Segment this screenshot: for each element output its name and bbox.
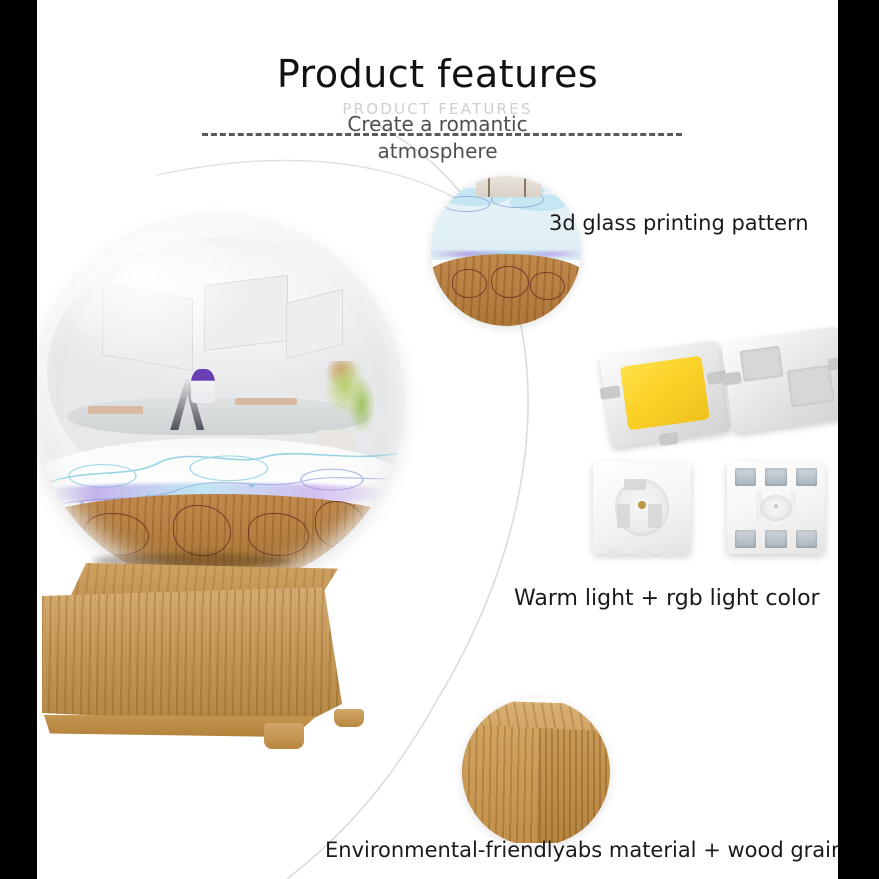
solder-pad — [735, 468, 757, 486]
cube-right-face — [539, 728, 610, 843]
led-die — [648, 504, 662, 528]
background-wire — [488, 176, 490, 197]
rgb-5050-led-top-view — [593, 462, 691, 554]
background-object — [476, 176, 542, 197]
solder-pad — [765, 468, 787, 486]
poster-canvas: PRODUCT FEATURES Product features Create… — [37, 0, 838, 879]
printed-contour-line — [491, 266, 529, 298]
caption-glass-print: 3d glass printing pattern — [549, 211, 809, 235]
led-notch — [658, 431, 679, 446]
callout-wood-grain-detail — [462, 698, 610, 846]
callout-glass-print-detail — [431, 176, 581, 326]
package-center-dot — [774, 504, 778, 509]
base-foot — [334, 709, 364, 727]
warm-white-smd-led — [599, 340, 731, 448]
printed-contour-line — [452, 269, 487, 298]
led-pad — [739, 346, 783, 383]
glass-rim-shading — [37, 215, 404, 587]
glass-ball — [37, 215, 404, 587]
base-foot — [264, 723, 304, 749]
led-die — [617, 504, 631, 528]
background-wire — [524, 176, 526, 197]
product-feature-poster: PRODUCT FEATURES Product features Create… — [0, 0, 879, 879]
printed-contour-line — [530, 272, 565, 300]
led-lead — [662, 549, 678, 557]
led-center-contact — [638, 501, 646, 509]
solder-pad — [796, 530, 818, 548]
letterbox-band-left — [0, 0, 37, 879]
letterbox-band-right — [838, 0, 879, 879]
led-pad — [787, 365, 834, 407]
rgb-5050-led-pad-view — [727, 462, 825, 554]
caption-material: Environmental-friendlyabs material + woo… — [325, 838, 838, 862]
wooden-base — [42, 563, 362, 763]
led-lead — [634, 549, 650, 557]
tagline-line-2: atmosphere — [37, 138, 838, 165]
cube-left-face — [462, 722, 542, 843]
poster-header: PRODUCT FEATURES Product features Create… — [37, 0, 838, 175]
tagline-line-1: Create a romantic — [37, 111, 838, 138]
header-tagline: Create a romantic atmosphere — [37, 111, 838, 165]
page-title: Product features — [37, 55, 838, 93]
led-phosphor-face — [620, 356, 710, 431]
led-lead — [607, 549, 623, 557]
led-notch — [827, 357, 838, 371]
solder-pad — [735, 530, 757, 548]
rgb-led-group — [585, 456, 835, 566]
led-die — [624, 479, 646, 490]
print-outline — [443, 196, 490, 211]
solder-pad — [796, 468, 818, 486]
caption-light-color: Warm light + rgb light color — [514, 586, 820, 611]
solder-pad — [765, 530, 787, 548]
smd-led-blank-body — [721, 326, 838, 434]
warm-white-led-group — [597, 330, 837, 450]
product-photo — [37, 215, 432, 815]
base-front-face — [42, 587, 342, 737]
